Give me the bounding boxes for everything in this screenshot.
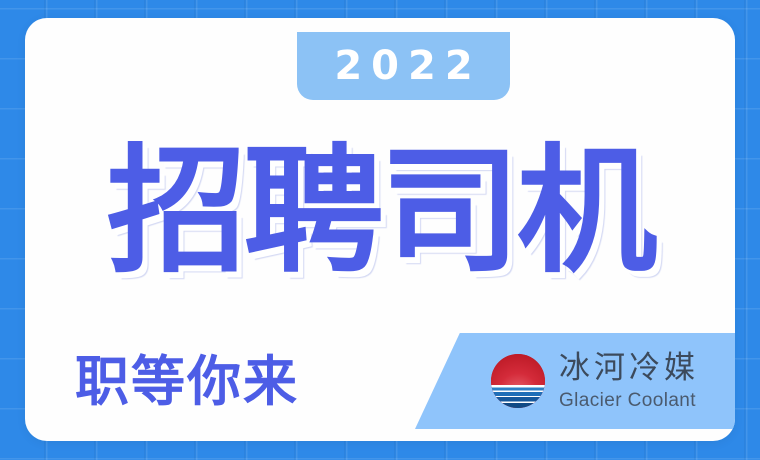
glacier-sun-water-icon: [491, 354, 545, 408]
subheadline-text: 职等你来: [75, 350, 299, 413]
year-badge: 2022: [297, 32, 510, 100]
logo-lockup: 冰河冷媒 Glacier Coolant: [491, 353, 699, 410]
headline-text: 招聘司机: [107, 143, 654, 281]
water-stripes-shape: [491, 385, 545, 408]
year-badge-label: 2022: [325, 46, 481, 86]
subheadline: 职等你来: [75, 355, 299, 409]
logo-panel: 冰河冷媒 Glacier Coolant: [415, 333, 735, 429]
poster-card: 2022 招聘司机 职等你来 冰河冷媒 Glacier Coolant: [25, 18, 735, 441]
logo-text-block: 冰河冷媒 Glacier Coolant: [559, 353, 699, 410]
recruitment-poster: 2022 招聘司机 职等你来 冰河冷媒 Glacier Coolant: [0, 0, 760, 460]
company-name-cn: 冰河冷媒: [559, 353, 699, 384]
headline: 招聘司机: [25, 143, 735, 281]
company-name-en: Glacier Coolant: [559, 391, 699, 410]
